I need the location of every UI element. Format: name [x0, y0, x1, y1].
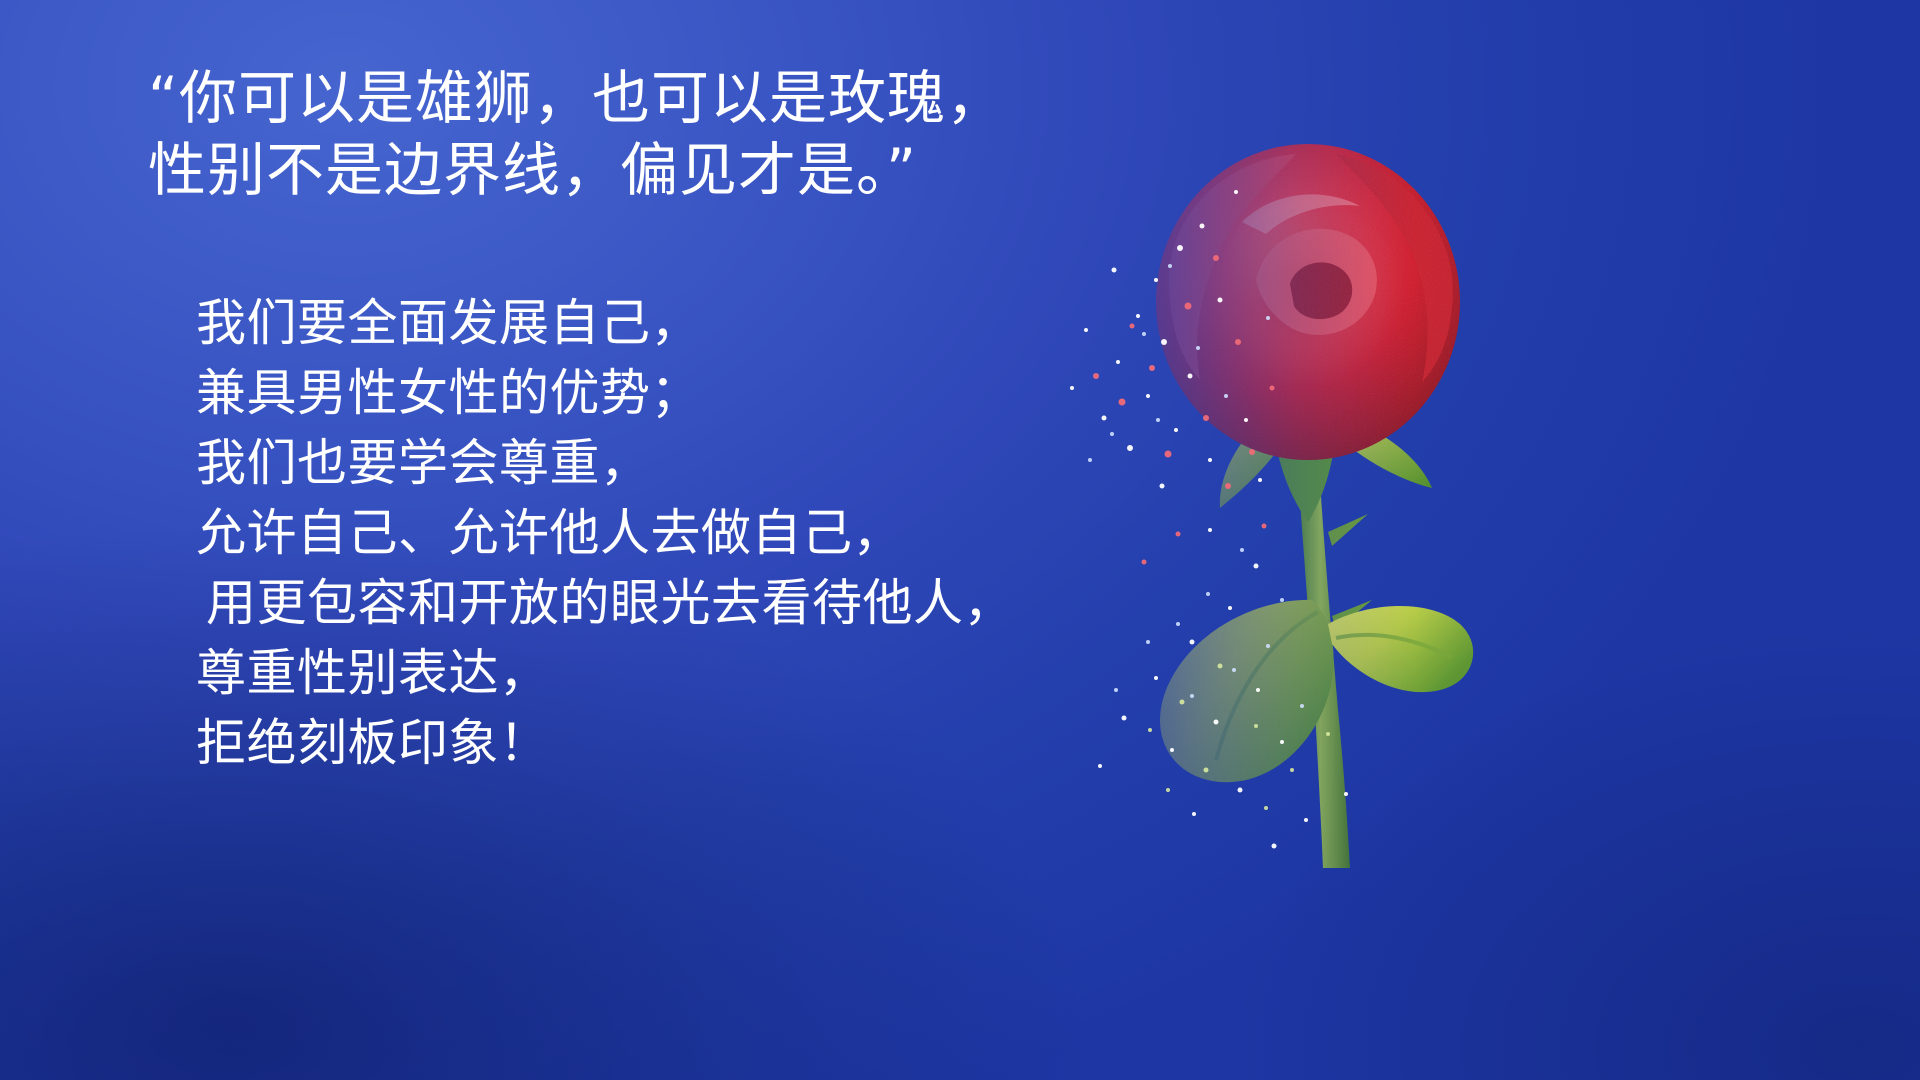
- body-block: 我们要全面发展自己， 兼具男性女性的优势； 我们也要学会尊重， 允许自己、允许他…: [196, 288, 1176, 778]
- body-line-5: 用更包容和开放的眼光去看待他人，: [196, 568, 1176, 638]
- body-line-2: 兼具男性女性的优势；: [196, 358, 1176, 428]
- slide-canvas: “你可以是雄狮，也可以是玫瑰， 性别不是边界线，偏见才是。” 我们要全面发展自己…: [0, 0, 1920, 1080]
- body-line-7: 拒绝刻板印象！: [196, 708, 1176, 778]
- body-line-4: 允许自己、允许他人去做自己，: [196, 498, 1176, 568]
- body-line-6: 尊重性别表达，: [196, 638, 1176, 708]
- rose-body: [1156, 144, 1473, 868]
- rose-leaf-left: [1160, 600, 1334, 782]
- body-line-3: 我们也要学会尊重，: [196, 428, 1176, 498]
- body-line-1: 我们要全面发展自己，: [196, 288, 1176, 358]
- rose-bloom-grain: [1156, 144, 1460, 460]
- quote-line-2: 性别不是边界线，偏见才是。”: [148, 134, 1068, 206]
- rose-leaf-right: [1328, 606, 1473, 692]
- rose-thorn-upper: [1328, 514, 1368, 546]
- quote-line-1: “你可以是雄狮，也可以是玫瑰，: [148, 62, 1068, 134]
- quote-block: “你可以是雄狮，也可以是玫瑰， 性别不是边界线，偏见才是。”: [148, 62, 1068, 206]
